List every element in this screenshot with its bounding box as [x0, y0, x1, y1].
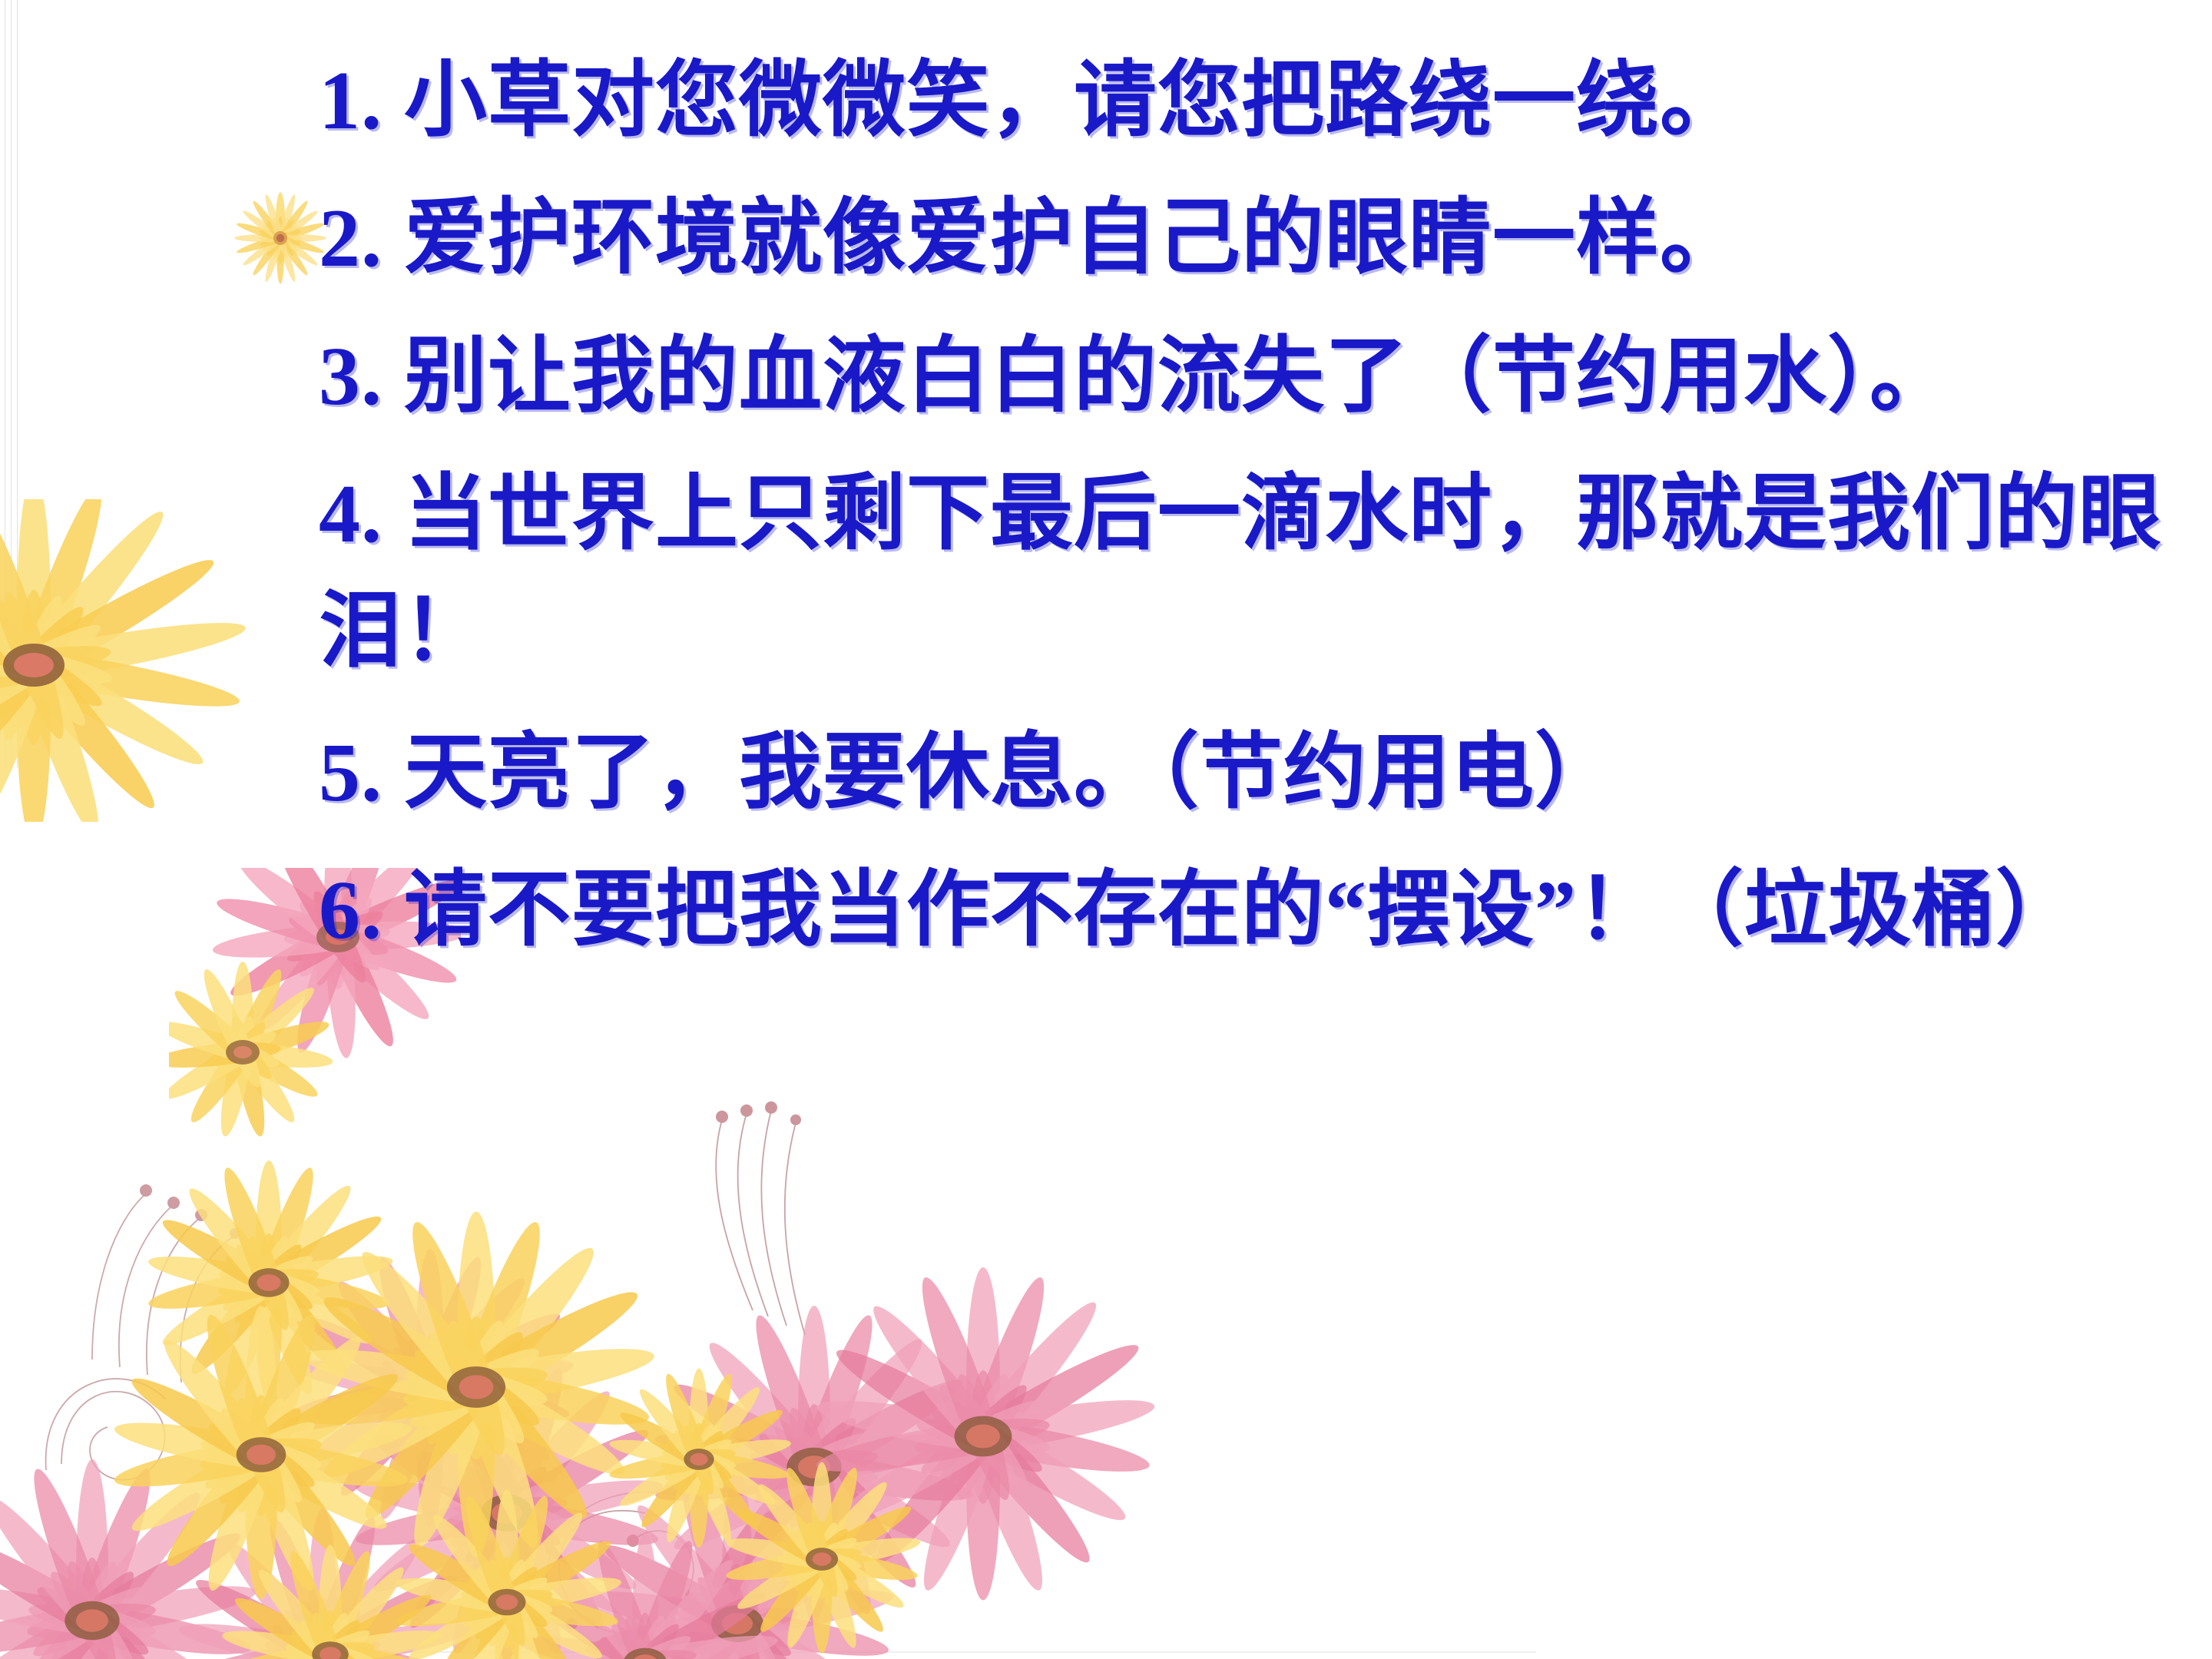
small-yellow-flower-top-left: [230, 188, 330, 288]
edge-rule: [17, 0, 18, 768]
slide-canvas: 1. 小草对您微微笑，请您把路绕一绕。 2. 爱护环境就像爱护自己的眼睛一样。 …: [0, 0, 2212, 1659]
slogan-item-4: 4. 当世界上只剩下最后一滴水时，那就是我们的眼泪！: [319, 455, 2212, 691]
bottom-hairline: [230, 1651, 1536, 1653]
slogan-list: 1. 小草对您微微笑，请您把路绕一绕。 2. 爱护环境就像爱护自己的眼睛一样。 …: [319, 42, 2212, 970]
edge-rule: [11, 0, 12, 768]
edge-rule: [5, 0, 5, 768]
slogan-item-3: 3. 别让我的血液白白的流失了（节约用水）。: [319, 318, 2212, 435]
slogan-item-2: 2. 爱护环境就像爱护自己的眼睛一样。: [319, 180, 2212, 297]
slogan-item-1: 1. 小草对您微微笑，请您把路绕一绕。: [319, 42, 2212, 160]
bottom-flower-bouquet: [0, 1052, 1536, 1659]
large-yellow-flower-left-edge: [0, 499, 261, 822]
slogan-item-6: 6. 请不要把我当作不存在的“摆设”！（垃圾桶）: [319, 852, 2212, 969]
slogan-item-5: 5. 天亮了，我要休息。（节约用电）: [319, 714, 2212, 832]
